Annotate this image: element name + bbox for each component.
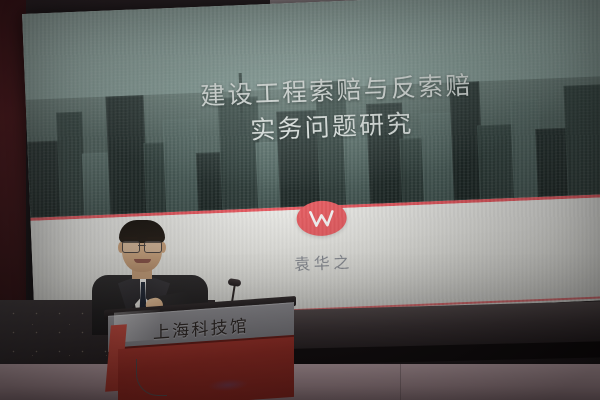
projector-scanlines — [22, 0, 600, 218]
speaker-hair — [119, 220, 165, 243]
left-wall-panel — [0, 0, 26, 330]
presentation-photo: 建设工程索赔与反索赔 实务问题研究 袁华之 — [0, 0, 600, 400]
speaker-eyebrow-right — [147, 237, 162, 239]
stage-floor — [0, 364, 600, 400]
speaker-eyeglasses — [122, 241, 162, 251]
speaker-eyebrow-left — [123, 237, 138, 239]
podium: 上海科技馆 — [100, 303, 298, 400]
slide-photo-city-skyline — [22, 0, 600, 218]
speaker-mouth — [134, 259, 151, 263]
stage-floor-seam — [400, 364, 401, 400]
